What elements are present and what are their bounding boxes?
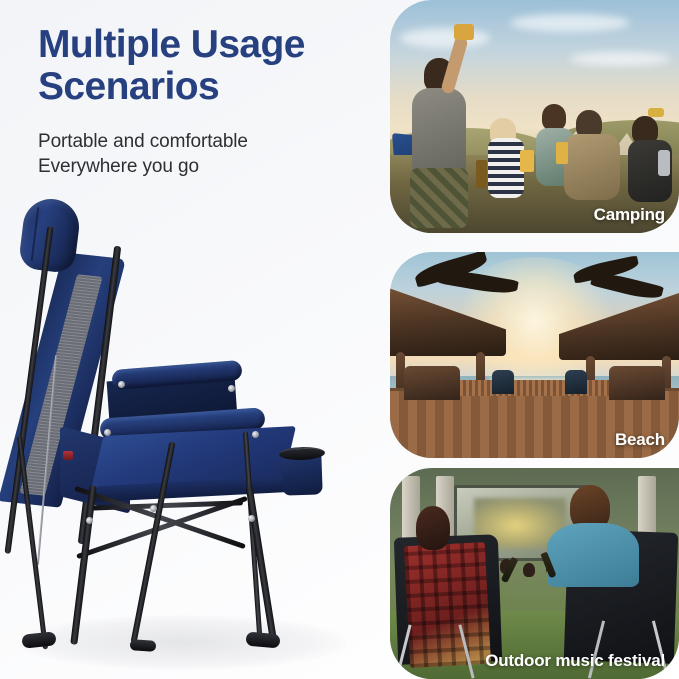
- plaid-blanket: [404, 542, 491, 668]
- beach-photo: [390, 252, 679, 458]
- page-title: Multiple Usage Scenarios: [38, 24, 383, 107]
- festival-photo: [390, 468, 679, 679]
- chair-rivet: [150, 505, 157, 512]
- deck-chair-right: [565, 370, 587, 394]
- subtitle-line-2: Everywhere you go: [38, 154, 368, 179]
- deck-railing: [454, 380, 616, 396]
- product-shadow: [18, 615, 348, 670]
- scenario-panel-camping[interactable]: Camping: [390, 0, 679, 233]
- crowd-head: [523, 563, 535, 577]
- left-content-column: Multiple Usage Scenarios Portable and co…: [0, 0, 400, 679]
- chair-lock-clip: [63, 451, 73, 460]
- person-torso: [488, 138, 524, 198]
- headband: [648, 108, 664, 117]
- camping-photo: [390, 0, 679, 233]
- scenario-panel-festival[interactable]: Outdoor music festival: [390, 468, 679, 679]
- chair-rivet: [86, 517, 93, 524]
- drink-cup: [454, 24, 474, 40]
- cloud: [570, 52, 670, 66]
- chair-rivet: [252, 431, 259, 438]
- chair-foot-right: [245, 632, 280, 649]
- drink-cup: [520, 150, 534, 172]
- drink-can: [658, 150, 670, 176]
- cloud: [510, 14, 630, 32]
- person-torso: [564, 134, 620, 200]
- chair-rivet: [228, 385, 235, 392]
- headline-line-2: Scenarios: [38, 66, 383, 108]
- cloud: [400, 28, 490, 48]
- panel-caption-camping: Camping: [594, 205, 665, 225]
- marketing-banner: Multiple Usage Scenarios Portable and co…: [0, 0, 679, 679]
- page-subtitle: Portable and comfortable Everywhere you …: [38, 129, 368, 179]
- chair-foot-center: [130, 639, 157, 652]
- drink-bottle: [476, 160, 487, 188]
- subtitle-line-1: Portable and comfortable: [38, 129, 368, 154]
- chair-rivet: [118, 381, 125, 388]
- headline-line-1: Multiple Usage: [38, 24, 383, 66]
- chair-rivet: [248, 515, 255, 522]
- person-head: [542, 104, 566, 130]
- product-image-folding-camp-chair: [0, 185, 370, 679]
- deck-chair-left: [492, 370, 514, 394]
- drink-cup: [556, 142, 568, 164]
- deck-structure-left: [404, 366, 460, 400]
- person-torso: [412, 88, 466, 174]
- panel-caption-festival: Outdoor music festival: [485, 651, 665, 671]
- chair-rivet: [104, 429, 111, 436]
- person-legs-camo: [410, 168, 468, 228]
- person-shirt-right: [547, 523, 639, 587]
- scenario-panels: Camping: [390, 0, 679, 679]
- person-head-left: [416, 506, 450, 550]
- deck-structure-right: [609, 366, 665, 400]
- panel-caption-beach: Beach: [615, 430, 665, 450]
- scenario-panel-beach[interactable]: Beach: [390, 252, 679, 458]
